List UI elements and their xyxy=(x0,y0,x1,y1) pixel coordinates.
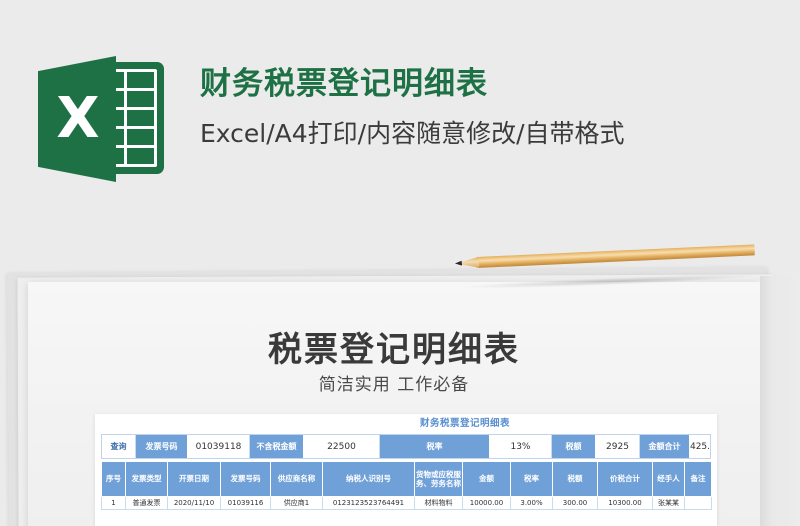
col-header-remark[interactable]: 备注 xyxy=(685,462,712,497)
query-value-tax-rate[interactable]: 13% xyxy=(490,435,552,458)
excel-grid-cell xyxy=(127,72,155,88)
pencil-graphite-tip xyxy=(455,261,462,266)
cell-invoice-no[interactable]: 01039116 xyxy=(221,497,271,510)
cell-total[interactable]: 10300.00 xyxy=(598,497,653,510)
col-header-index[interactable]: 序号 xyxy=(102,462,126,497)
worksheet-card: 财务税票登记明细表 查询 发票号码 01039118 不含税金额 22500 税… xyxy=(95,414,717,526)
table-row[interactable]: 1 普通发票 2020/11/10 01039116 供应商1 01231235… xyxy=(102,497,712,510)
cell-index[interactable]: 1 xyxy=(102,497,126,510)
excel-grid-cell xyxy=(127,91,155,107)
banner-subtitle: Excel/A4打印/内容随意修改/自带格式 xyxy=(200,118,780,149)
cell-tax-rate[interactable]: 3.00% xyxy=(511,497,553,510)
pencil-wood-cone xyxy=(460,257,479,269)
col-header-invoice-no[interactable]: 发票号码 xyxy=(221,462,271,497)
query-label-tax-rate: 税率 xyxy=(380,435,490,458)
query-label-invoice-number: 发票号码 xyxy=(136,435,188,458)
header-banner: X 财务税票登记明细表 Excel/A4打印/内容随意修改/自带格式 xyxy=(0,0,800,230)
excel-grid-cell xyxy=(127,148,155,164)
cell-invoice-type[interactable]: 普通发票 xyxy=(126,497,168,510)
col-header-tax-rate[interactable]: 税率 xyxy=(511,462,553,497)
cell-handler[interactable]: 张某某 xyxy=(653,497,685,510)
query-label-amount-excl-tax: 不含税金额 xyxy=(250,435,304,458)
query-value-invoice-number[interactable]: 01039118 xyxy=(188,435,250,458)
banner-title: 财务税票登记明细表 xyxy=(200,66,780,104)
cell-issue-date[interactable]: 2020/11/10 xyxy=(168,497,221,510)
document-subtitle: 简洁实用 工作必备 xyxy=(28,370,760,395)
cell-tax-amount[interactable]: 300.00 xyxy=(553,497,598,510)
table-header-row: 序号 发票类型 开票日期 发票号码 供应商名称 纳税人识别号 货物或应税服务、劳… xyxy=(102,462,712,497)
col-header-total[interactable]: 价税合计 xyxy=(598,462,653,497)
col-header-handler[interactable]: 经手人 xyxy=(653,462,685,497)
excel-x-panel: X xyxy=(38,56,116,182)
query-value-total-amount[interactable]: 25425.00 xyxy=(690,435,710,458)
cell-remark[interactable] xyxy=(685,497,712,510)
query-value-amount-excl-tax[interactable]: 22500 xyxy=(304,435,380,458)
col-header-goods-name[interactable]: 货物或应税服务、劳务名称 xyxy=(415,462,463,497)
query-bar: 查询 发票号码 01039118 不含税金额 22500 税率 13% 税额 2… xyxy=(101,434,711,459)
col-header-tax-amount[interactable]: 税额 xyxy=(553,462,598,497)
cell-amount[interactable]: 10000.00 xyxy=(463,497,511,510)
cell-taxpayer-id[interactable]: 0123123523764491 xyxy=(323,497,415,510)
query-label-total-amount: 金额合计 xyxy=(640,435,690,458)
paper-right-edge xyxy=(760,276,800,526)
col-header-taxpayer-id[interactable]: 纳税人识别号 xyxy=(323,462,415,497)
invoice-table: 序号 发票类型 开票日期 发票号码 供应商名称 纳税人识别号 货物或应税服务、劳… xyxy=(101,461,712,510)
col-header-invoice-type[interactable]: 发票类型 xyxy=(126,462,168,497)
query-button[interactable]: 查询 xyxy=(102,435,136,458)
cell-goods-name[interactable]: 材料物料 xyxy=(415,497,463,510)
banner-text-block: 财务税票登记明细表 Excel/A4打印/内容随意修改/自带格式 xyxy=(200,66,780,149)
worksheet-title: 财务税票登记明细表 xyxy=(95,414,717,434)
excel-icon: X xyxy=(38,56,168,182)
excel-grid-cell xyxy=(127,129,155,145)
excel-grid-cell xyxy=(127,110,155,126)
col-header-amount[interactable]: 金额 xyxy=(463,462,511,497)
col-header-supplier[interactable]: 供应商名称 xyxy=(271,462,323,497)
query-label-tax-amount: 税额 xyxy=(552,435,596,458)
cell-supplier[interactable]: 供应商1 xyxy=(271,497,323,510)
document-title: 税票登记明细表 xyxy=(28,322,760,371)
col-header-issue-date[interactable]: 开票日期 xyxy=(168,462,221,497)
query-value-tax-amount[interactable]: 2925 xyxy=(596,435,640,458)
excel-x-letter: X xyxy=(56,91,99,147)
